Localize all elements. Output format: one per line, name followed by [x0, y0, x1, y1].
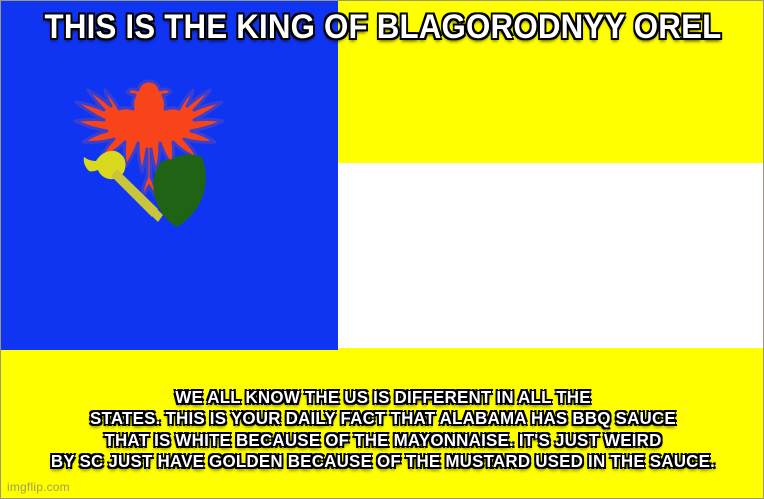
eagle-emblem — [59, 49, 239, 244]
imgflip-watermark: imgflip.com — [7, 480, 70, 494]
eagle-with-axe-and-shield-icon — [59, 49, 239, 244]
flag-band-yellow-bottom — [1, 348, 764, 499]
meme-image: THIS IS THE KING OF BLAGORODNYY OREL WE … — [0, 0, 764, 499]
